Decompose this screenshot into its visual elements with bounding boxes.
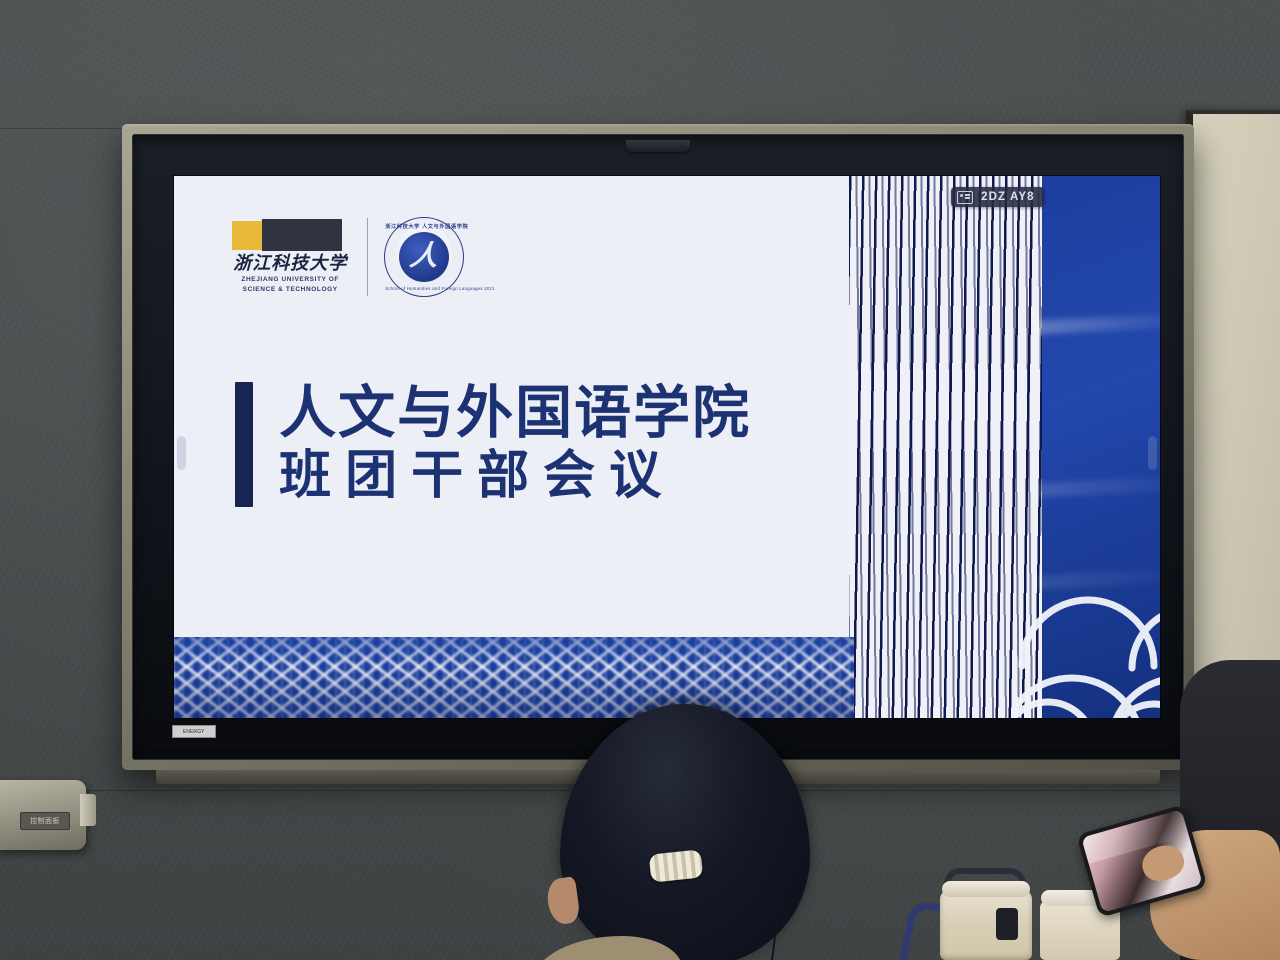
attendee-ear: [545, 876, 581, 926]
tumbler-left: [940, 890, 1032, 960]
hair-clip: [649, 849, 704, 882]
tumbler-clasp: [996, 908, 1018, 940]
university-name-cn: 浙江科技大学: [233, 254, 347, 273]
slide-title-line1: 人文与外国语学院: [279, 382, 751, 446]
display-sticker-text: ENERGY: [183, 729, 205, 734]
school-emblem-icon: 浙江科技大学 人文与外国语学院 人 School of Humanities a…: [384, 217, 464, 297]
screen-share-icon: [957, 191, 973, 204]
emblem-glyph: 人: [408, 243, 440, 271]
emblem-disc: 人: [399, 232, 449, 282]
meeting-room-photo: 控制面板: [0, 0, 1280, 960]
university-logo: 浙江科技大学 ZHEJIANG UNIVERSITY OF SCIENCE & …: [229, 219, 351, 294]
status-badge-text: 2DZ AY8: [981, 191, 1035, 203]
slide-logo-row: 浙江科技大学 ZHEJIANG UNIVERSITY OF SCIENCE & …: [229, 217, 464, 297]
slide-title-block: 人文与外国语学院 班团干部会议: [235, 382, 751, 507]
emblem-ring-text-en: School of Humanities and Foreign Languag…: [385, 286, 463, 291]
left-gesture-handle[interactable]: [177, 436, 186, 470]
right-gesture-handle[interactable]: [1148, 436, 1157, 470]
title-accent-bar: [235, 382, 253, 507]
status-badge[interactable]: 2DZ AY8: [951, 187, 1044, 207]
logo-dark-bar: [262, 242, 342, 251]
slide-title-line2: 班团干部会议: [279, 446, 751, 507]
display-screen[interactable]: 浙江科技大学 ZHEJIANG UNIVERSITY OF SCIENCE & …: [174, 176, 1160, 718]
logo-divider: [367, 218, 368, 296]
university-name-en-2: SCIENCE & TECHNOLOGY: [243, 285, 338, 294]
emblem-ring-text-cn: 浙江科技大学 人文与外国语学院: [385, 223, 463, 230]
university-name-en-1: ZHEJIANG UNIVERSITY OF: [241, 275, 339, 284]
wall-box-tab: [80, 794, 96, 826]
wall-box-label: 控制面板: [20, 812, 70, 830]
camera-icon: [626, 140, 690, 152]
interactive-display[interactable]: 浙江科技大学 ZHEJIANG UNIVERSITY OF SCIENCE & …: [122, 124, 1194, 770]
display-bezel-inner: 浙江科技大学 ZHEJIANG UNIVERSITY OF SCIENCE & …: [132, 134, 1184, 760]
logo-yellow-block: [232, 221, 266, 250]
wall-control-box[interactable]: 控制面板: [0, 780, 86, 850]
display-sticker: ENERGY: [172, 725, 216, 738]
attendee-head: [560, 704, 810, 960]
attendee-front: [540, 700, 830, 960]
arc-pattern-graphic: [1012, 555, 1160, 718]
university-logo-mark: [232, 219, 348, 251]
tumbler-lid: [942, 881, 1030, 897]
presentation-slide: 浙江科技大学 ZHEJIANG UNIVERSITY OF SCIENCE & …: [174, 176, 1160, 718]
wall-box-label-text: 控制面板: [30, 816, 60, 826]
